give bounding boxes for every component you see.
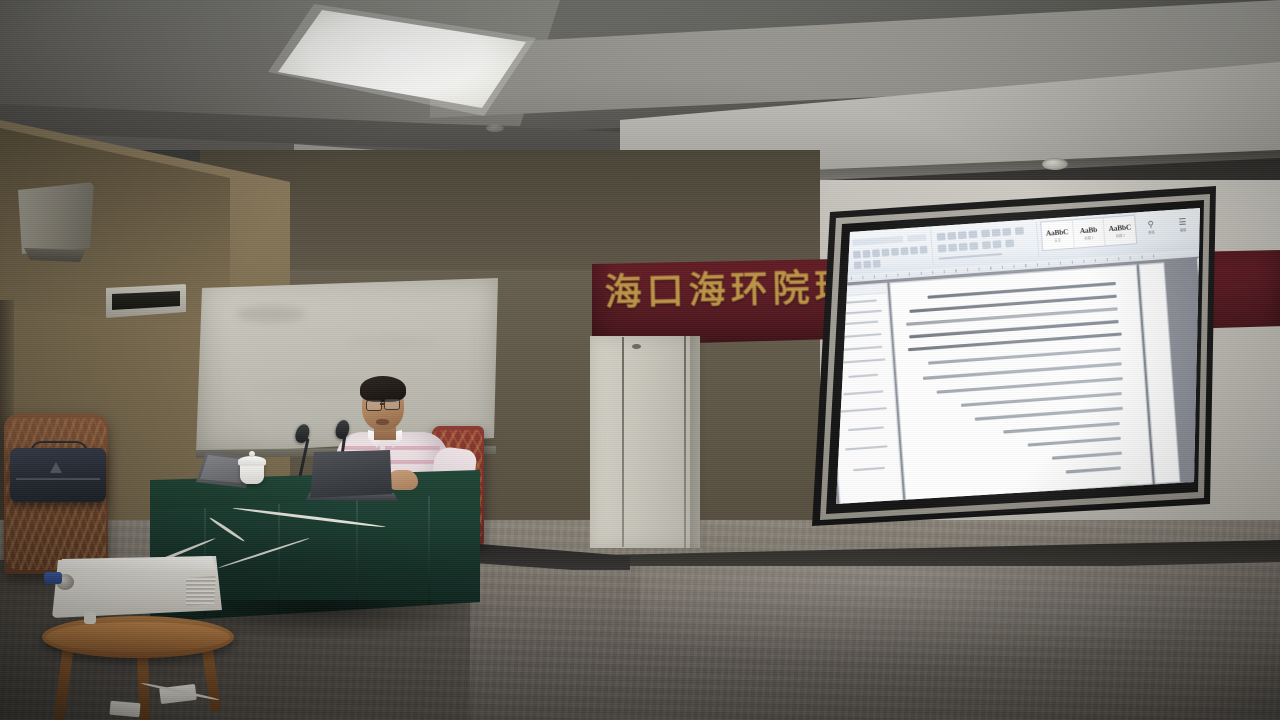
glasses-icon [384, 399, 400, 410]
smoke-detector-icon [1042, 158, 1068, 170]
style-name: 标题 2 [1116, 233, 1125, 238]
style-preview: AaBb [1080, 225, 1098, 235]
tea-cup-lid [238, 456, 266, 466]
find-button-label: 查找 [1148, 230, 1155, 235]
door-seam [622, 337, 624, 547]
document-page[interactable] [889, 264, 1153, 502]
editing-button[interactable]: ☰ 编辑 [1171, 211, 1194, 238]
projector-vent-icon [186, 576, 216, 606]
glasses-icon [366, 400, 382, 411]
document-workspace[interactable] [836, 256, 1200, 504]
search-icon: ⚲ [1147, 220, 1154, 230]
bag-zipper [16, 478, 100, 480]
word-application-window: 开始 插入 页面布局 引用 邮件 审阅 视图 [836, 208, 1200, 504]
glasses-bridge [380, 403, 385, 405]
presenter-hair [360, 376, 406, 402]
style-gallery[interactable]: AaBbC 正文 AaBb 标题 1 AaBbC 标题 2 [1040, 215, 1137, 252]
style-name: 正文 [1054, 238, 1061, 243]
style-item[interactable]: AaBb 标题 1 [1073, 218, 1106, 248]
wall-speaker-icon [18, 182, 94, 254]
ribbon-group-font[interactable] [848, 230, 934, 272]
wall-back-upper [200, 150, 820, 270]
style-name: 标题 1 [1084, 235, 1093, 240]
projected-image: 开始 插入 页面布局 引用 邮件 审阅 视图 [836, 208, 1200, 504]
door-shadow [690, 336, 708, 548]
style-preview: AaBbC [1108, 223, 1131, 233]
presenter-mouth [376, 419, 389, 425]
style-item[interactable]: AaBbC 标题 2 [1104, 216, 1136, 246]
wall-speaker-bracket [24, 248, 86, 262]
ceiling-fixture-icon [486, 124, 504, 132]
paper-on-floor [109, 701, 140, 718]
stool-seat [46, 622, 230, 652]
tea-cup-knob [249, 451, 255, 457]
menu-icon: ☰ [1178, 217, 1186, 227]
editing-button-label: 编辑 [1180, 228, 1187, 233]
door-seam [684, 336, 686, 548]
floor-light-sheen [640, 560, 1280, 670]
conference-room-photo: 海口海环院环境保护 [0, 0, 1280, 720]
style-item[interactable]: AaBbC 正文 [1041, 220, 1074, 250]
projector-foot [84, 612, 96, 624]
projector-cable-connector [44, 572, 62, 584]
presenter-laptop [310, 450, 392, 498]
style-preview: AaBbC [1046, 227, 1069, 237]
door-knob-icon[interactable] [632, 344, 641, 349]
ribbon-group-paragraph[interactable] [932, 222, 1039, 266]
presenter-hand [388, 470, 418, 490]
find-button[interactable]: ⚲ 查找 [1139, 214, 1162, 241]
laptop-bag [10, 448, 106, 502]
